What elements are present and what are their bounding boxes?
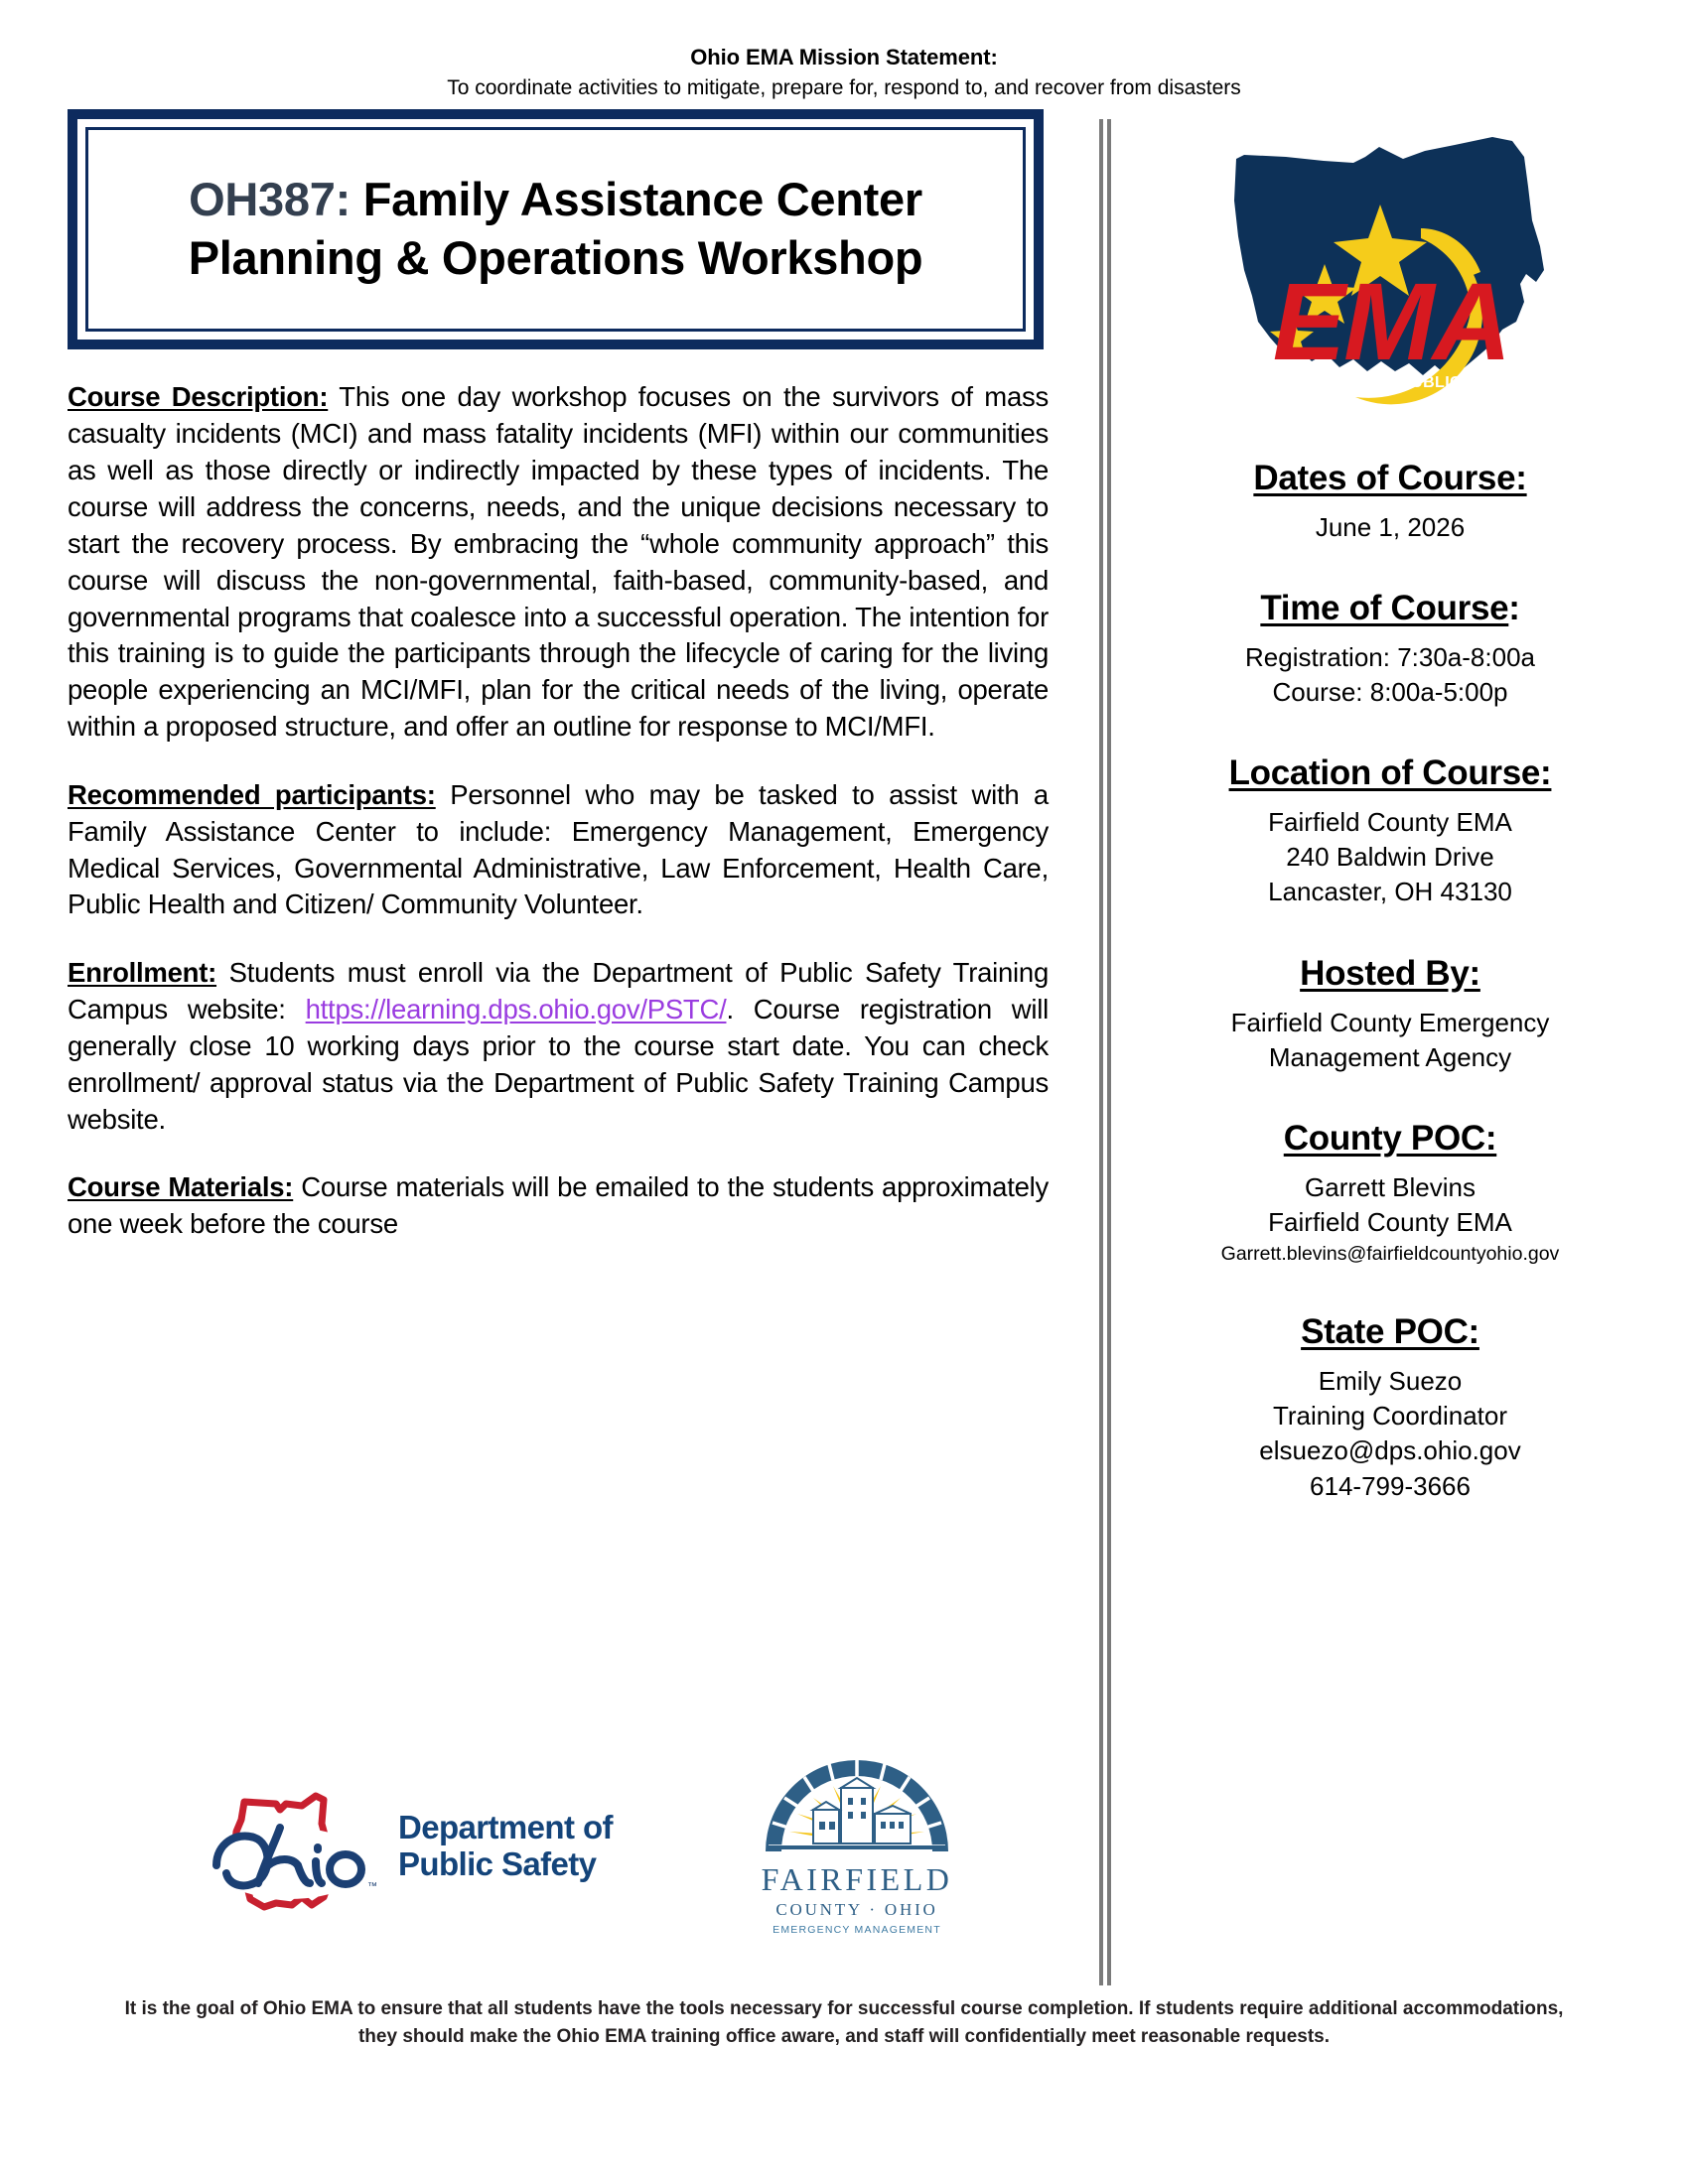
state-poc-value: Emily Suezo Training Coordinator elsuezo… [1132,1364,1648,1503]
dates-of-course-value: June 1, 2026 [1132,510,1648,545]
course-materials-paragraph: Course Materials: Course materials will … [68,1169,1049,1243]
course-description-paragraph: Course Description: This one day worksho… [68,379,1049,745]
course-description-text: This one day workshop focuses on the sur… [68,381,1049,742]
state-poc-heading: State POC: [1132,1312,1648,1352]
flyer-body: OH387: Family Assistance Center Planning… [0,109,1688,1966]
ohio-dps-logo: ™ Department of Public Safety [207,1772,673,1921]
course-description-label: Course Description: [68,381,328,412]
dps-wordmark: Department of Public Safety [398,1810,613,1883]
location-of-course-heading: Location of Course: [1132,753,1648,793]
mission-statement-title: Ohio EMA Mission Statement: [0,44,1688,71]
mission-statement-header: Ohio EMA Mission Statement: To coordinat… [0,0,1688,101]
recommended-participants-label: Recommended participants: [68,779,436,810]
state-poc-title: Training Coordinator [1132,1399,1648,1433]
dates-of-course-heading: Dates of Course: [1132,459,1648,498]
svg-text:™: ™ [367,1881,377,1892]
fairfield-seal-icon [758,1752,956,1859]
location-line-1: Fairfield County EMA [1132,805,1648,840]
course-title-box: OH387: Family Assistance Center Planning… [68,109,1044,349]
ohio-ema-logo: EMA PUBLIC SAFETY, PUBLIC TRUST [1226,117,1554,415]
course-name-line2: Planning & Operations Workshop [189,231,923,284]
course-code: OH387: [189,173,351,225]
hosted-by-line-2: Management Agency [1132,1040,1648,1075]
dps-wordmark-line1: Department of [398,1810,613,1846]
enrollment-link[interactable]: https://learning.dps.ohio.gov/PSTC/ [306,994,727,1024]
hosted-by-line-1: Fairfield County Emergency [1132,1006,1648,1040]
location-line-3: Lancaster, OH 43130 [1132,875,1648,909]
svg-text:PUBLIC SAFETY, PUBLIC TRUST: PUBLIC SAFETY, PUBLIC TRUST [1261,374,1521,391]
registration-time: Registration: 7:30a-8:00a [1132,640,1648,675]
county-poc-org: Fairfield County EMA [1132,1205,1648,1240]
page-title: OH387: Family Assistance Center Planning… [118,170,993,287]
enrollment-label: Enrollment: [68,957,216,988]
left-column: OH387: Family Assistance Center Planning… [68,109,1070,1243]
county-poc-value: Garrett Blevins Fairfield County EMA [1132,1170,1648,1240]
mission-statement-body: To coordinate activities to mitigate, pr… [0,74,1688,101]
hosted-by-heading: Hosted By: [1132,954,1648,994]
enrollment-paragraph: Enrollment: Students must enroll via the… [68,955,1049,1138]
column-divider [1099,119,1113,1985]
state-poc-email[interactable]: elsuezo@dps.ohio.gov [1132,1433,1648,1468]
location-of-course-value: Fairfield County EMA 240 Baldwin Drive L… [1132,805,1648,909]
state-poc-phone: 614-799-3666 [1132,1469,1648,1504]
fairfield-department: EMERGENCY MANAGEMENT [743,1924,971,1936]
time-of-course-heading: Time of Course: [1132,589,1648,628]
state-poc-name: Emily Suezo [1132,1364,1648,1399]
svg-text:EMA: EMA [1273,261,1509,383]
course-time: Course: 8:00a-5:00p [1132,675,1648,710]
accessibility-footer: It is the goal of Ohio EMA to ensure tha… [0,1995,1688,2050]
fairfield-county-logo: FAIRFIELD COUNTY · OHIO EMERGENCY MANAGE… [743,1752,971,1941]
recommended-participants-paragraph: Recommended participants: Personnel who … [68,777,1049,923]
county-poc-name: Garrett Blevins [1132,1170,1648,1205]
ohio-script-icon: ™ [207,1780,380,1914]
dps-wordmark-line2: Public Safety [398,1846,613,1883]
course-name-line1: Family Assistance Center [351,173,922,225]
right-column: EMA PUBLIC SAFETY, PUBLIC TRUST Dates of… [1132,109,1648,1504]
time-of-course-values: Registration: 7:30a-8:00a Course: 8:00a-… [1132,640,1648,710]
county-poc-email[interactable]: Garrett.blevins@fairfieldcountyohio.gov [1132,1242,1648,1267]
fairfield-subtitle: COUNTY · OHIO [743,1900,971,1920]
hosted-by-value: Fairfield County Emergency Management Ag… [1132,1006,1648,1075]
course-materials-label: Course Materials: [68,1171,293,1202]
county-poc-heading: County POC: [1132,1119,1648,1159]
partner-logos: ™ Department of Public Safety [127,1752,1130,1951]
location-line-2: 240 Baldwin Drive [1132,840,1648,875]
fairfield-wordmark: FAIRFIELD [743,1861,971,1898]
